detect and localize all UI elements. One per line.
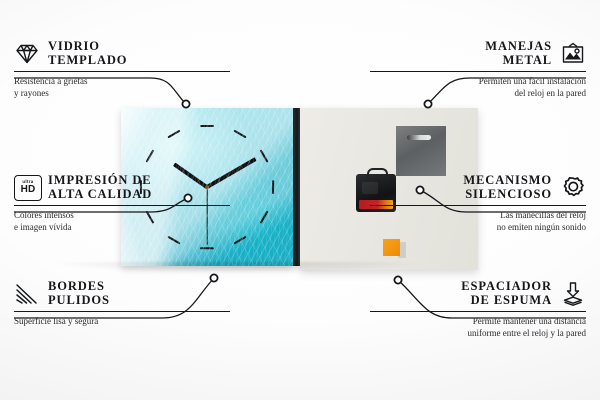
ultra-hd-icon: ultra HD [14,175,40,201]
clock-side-edge [293,108,300,266]
picture-hanger-icon [560,41,586,67]
callout-bordes-pulidos: BORDES PULIDOS Superficie lisa y segura [14,280,230,328]
clock-tick [260,150,269,163]
callout-title: VIDRIO TEMPLADO [48,40,127,67]
clock-tick [167,130,180,139]
callout-rule [14,71,230,72]
product-ground-shadow [55,262,485,278]
hanger-slot [407,135,431,140]
infographic-canvas: VIDRIO TEMPLADO Resistencia a grietas y … [0,0,600,400]
callout-vidrio-templado: VIDRIO TEMPLADO Resistencia a grietas y … [14,40,230,99]
callout-manejas-metal: MANEJAS METAL Permiten una fácil instala… [370,40,586,99]
callout-title: BORDES PULIDOS [48,280,110,307]
callout-rule [370,205,586,206]
callout-rule [370,71,586,72]
clock-tick [200,247,214,249]
callout-description: Colores intensos e imagen vívida [14,210,230,233]
clock-tick [200,125,214,127]
callout-description: Permite mantener una distancia uniforme … [370,316,586,339]
ultra-hd-main-label: HD [21,185,36,195]
callout-mecanismo-silencioso: MECANISMO SILENCIOSO Las manecillas del … [370,174,586,233]
clock-tick [260,211,269,224]
clock-tick [145,150,154,163]
callout-espaciador-espuma: ESPACIADOR DE ESPUMA Permite mantener un… [370,280,586,339]
callout-description: Permiten una fácil instalación del reloj… [370,76,586,99]
foam-spacer-pad [383,239,400,256]
callout-impresion-alta-calidad: ultra HD IMPRESIÓN DE ALTA CALIDAD Color… [14,174,230,233]
diamond-icon [14,41,40,67]
callout-rule [14,311,230,312]
callout-title: ESPACIADOR DE ESPUMA [461,280,552,307]
callout-title: MANEJAS METAL [485,40,552,67]
callout-description: Superficie lisa y segura [14,316,230,328]
callout-rule [14,205,230,206]
callout-title: MECANISMO SILENCIOSO [463,174,552,201]
clock-tick [167,235,180,244]
leader-marker-vidrio [182,100,189,107]
metal-hanger-plate [396,126,446,176]
callout-rule [370,311,586,312]
gear-icon [560,175,586,201]
foam-spacer-icon [560,281,586,307]
clock-tick [234,235,247,244]
callout-description: Las manecillas del reloj no emiten ningú… [370,210,586,233]
callout-description: Resistencia a grietas y rayones [14,76,230,99]
callout-title: IMPRESIÓN DE ALTA CALIDAD [48,174,152,201]
clock-tick [234,130,247,139]
leader-marker-manejas [424,100,431,107]
clock-tick [272,180,274,194]
polished-edges-icon [14,281,40,307]
